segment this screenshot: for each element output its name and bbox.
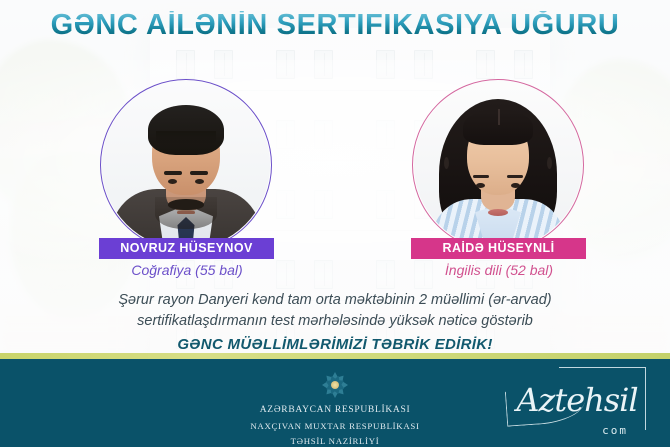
subject-label-novruz: Coğrafiya (55 bal): [87, 262, 287, 278]
body-text: Şərur rayon Danyeri kənd tam orta məktəb…: [40, 290, 630, 332]
congratulation-text: GƏNC MÜƏLLİMLƏRİMİZİ TƏBRİK EDİRİK!: [0, 336, 670, 353]
portrait-ring-pink: [412, 79, 584, 251]
name-badge-raide: RAİDƏ HÜSEYNLİ: [411, 238, 586, 259]
aztehsil-logo[interactable]: Aztehsil com: [502, 365, 652, 443]
body-line-1: Şərur rayon Danyeri kənd tam orta məktəb…: [40, 290, 630, 311]
logo-wordmark: Aztehsil: [502, 375, 652, 425]
person-card-raide: [412, 79, 584, 251]
body-line-2: sertifikatlaşdırmanın test mərhələsində …: [40, 311, 630, 332]
logo-domain: com: [602, 424, 628, 437]
portrait-ring-purple: [100, 79, 272, 251]
page-title: GƏNC AİLƏNİN SERTIFIKASIYA UĞURU: [51, 11, 620, 40]
title-container: GƏNC AİLƏNİN SERTIFIKASIYA UĞURU: [0, 11, 670, 40]
name-badge-novruz: NOVRUZ HÜSEYNOV: [99, 238, 274, 259]
poster: GƏNC AİLƏNİN SERTIFIKASIYA UĞURU: [0, 0, 670, 447]
footer-band: AZƏRBAYCAN RESPUBLİKASI NAXÇIVAN MUXTAR …: [0, 359, 670, 447]
subject-label-raide: İngilis dili (52 bal): [399, 262, 599, 278]
ministry-emblem-icon: [322, 372, 348, 398]
person-card-novruz: [100, 79, 272, 251]
